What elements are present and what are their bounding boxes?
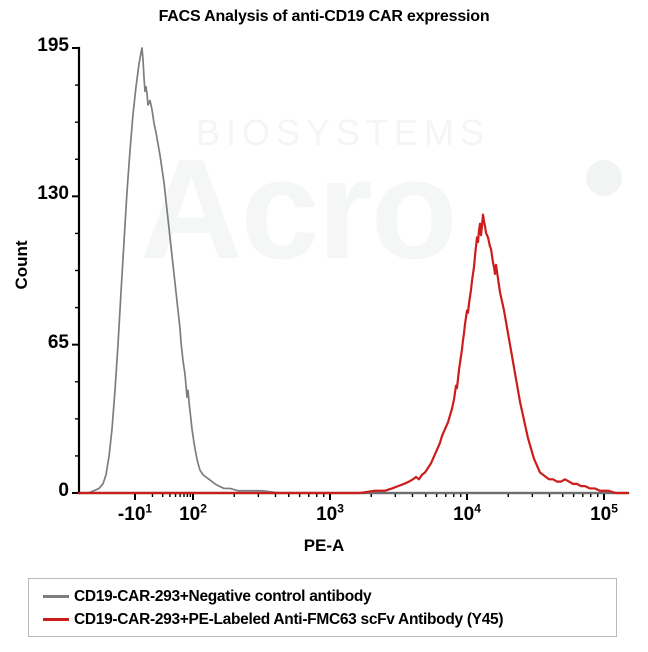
x-tick-label-mantissa: 10 (179, 504, 200, 525)
y-tick-label: 0 (1, 480, 69, 502)
legend-color-swatch (43, 595, 69, 598)
axes-group (79, 48, 628, 493)
x-tick-label-mantissa: 10 (316, 504, 337, 525)
legend-item-label: CD19-CAR-293+PE-Labeled Anti-FMC63 scFv … (74, 611, 503, 629)
y-tick-label: 65 (1, 332, 69, 354)
series-line-pe-labeled-antibody (79, 215, 628, 493)
legend-item-negative-control[interactable]: CD19-CAR-293+Negative control antibody (43, 585, 616, 608)
series-line-negative-control (79, 48, 628, 493)
x-tick-label-exponent: 5 (611, 502, 618, 516)
legend: CD19-CAR-293+Negative control antibody C… (28, 578, 617, 637)
x-tick-label-exponent: 2 (200, 502, 207, 516)
x-tick-label: 103 (285, 504, 375, 526)
y-axis-title: Count (12, 215, 32, 315)
x-tick-label: 104 (422, 504, 512, 526)
facs-chart-figure: BIOSYSTEMS Acro FACS Analysis of anti-CD… (0, 0, 648, 652)
x-tick-label-mantissa: -10 (118, 504, 145, 525)
y-tick-label: 195 (1, 35, 69, 57)
x-axis-title: PE-A (0, 536, 648, 556)
y-tick-label: 130 (1, 183, 69, 205)
legend-item-pe-labeled-antibody[interactable]: CD19-CAR-293+PE-Labeled Anti-FMC63 scFv … (43, 608, 616, 631)
legend-color-swatch (43, 618, 69, 621)
legend-item-label: CD19-CAR-293+Negative control antibody (74, 588, 371, 606)
x-tick-label: 102 (148, 504, 238, 526)
x-tick-label-exponent: 4 (474, 502, 481, 516)
x-tick-label: 105 (559, 504, 648, 526)
data-series-group (79, 48, 628, 493)
x-tick-label-mantissa: 10 (453, 504, 474, 525)
x-tick-label-mantissa: 10 (590, 504, 611, 525)
x-tick-label-exponent: 3 (337, 502, 344, 516)
